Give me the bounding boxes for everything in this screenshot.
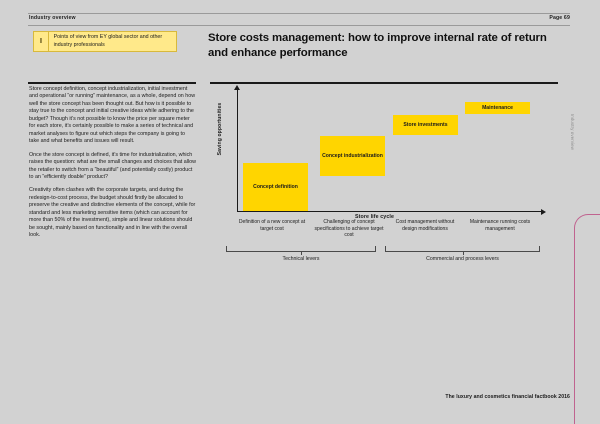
lever-bracket-tick: [301, 252, 302, 255]
page-number: Page 69: [549, 15, 570, 21]
footer-text: The luxury and cosmetics financial factb…: [445, 394, 570, 400]
side-accent-curve: [574, 214, 600, 424]
breadcrumb: Industry overview: [29, 15, 76, 21]
document-page: Industry overview Page 69 I Points of vi…: [0, 0, 600, 424]
stage-labels: Definition of a new concept at target co…: [210, 219, 558, 245]
lever-groups: Technical levers Commercial and process …: [210, 246, 558, 268]
chart-bar: Store investments: [393, 115, 458, 135]
y-axis-label: Saving opportunities: [217, 101, 223, 157]
body-paragraph: Creativity often clashes with the corpor…: [29, 187, 196, 239]
chart-bar: Concept definition: [243, 163, 308, 211]
callout-marker: I: [34, 38, 48, 45]
header-rule-bottom: [28, 25, 570, 26]
chart-bar: Maintenance: [465, 102, 530, 114]
stage-label: Challenging of concept specifications to…: [312, 219, 386, 239]
lever-label: Commercial and process levers: [385, 256, 540, 262]
y-axis-arrow-icon: [234, 85, 240, 90]
chart: Saving opportunities Store life cycle Co…: [210, 88, 558, 218]
callout-text: Points of view from EY global sector and…: [49, 34, 176, 48]
x-axis-arrow-icon: [541, 209, 546, 215]
body-column-rule: [28, 82, 196, 84]
body-paragraph: Store concept definition, concept indust…: [29, 86, 196, 146]
body-paragraph: Once the store concept is defined, it’s …: [29, 152, 196, 182]
page-title: Store costs management: how to improve i…: [208, 31, 558, 60]
lever-label: Technical levers: [226, 256, 376, 262]
x-axis-line: [237, 211, 542, 212]
chart-rule: [210, 82, 558, 84]
stage-label: Cost management without design modificat…: [388, 219, 462, 232]
side-tab-label: Industry overview: [570, 114, 575, 150]
body-column: Store concept definition, concept indust…: [29, 86, 196, 246]
lever-bracket-tick: [463, 252, 464, 255]
y-axis-line: [237, 90, 238, 212]
stage-label: Maintenance running costs management: [463, 219, 537, 232]
stage-label: Definition of a new concept at target co…: [235, 219, 309, 232]
header-rule-top: [28, 13, 570, 14]
callout-box: I Points of view from EY global sector a…: [33, 31, 177, 52]
chart-bar: Concept industrialization: [320, 136, 385, 176]
